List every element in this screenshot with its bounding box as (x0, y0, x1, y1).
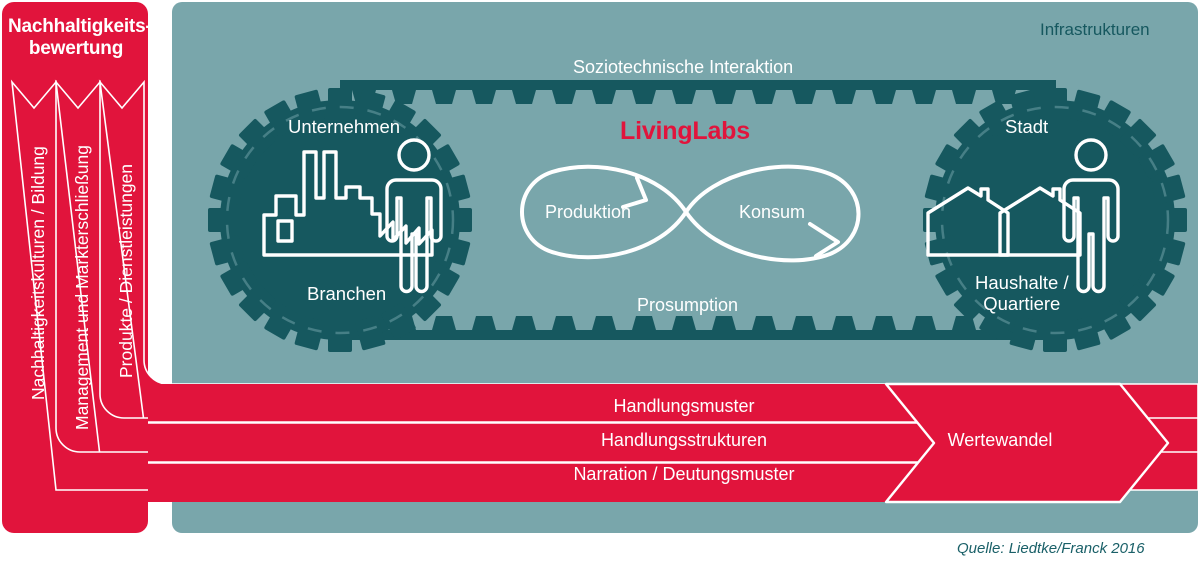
diagram-graphics (0, 0, 1200, 568)
diagram-canvas: Nachhaltigkeits- bewertung Nachhaltigkei… (0, 0, 1200, 568)
outcome-band-2 (148, 424, 923, 462)
outcome-band-1 (148, 384, 923, 422)
outcome-band-3 (148, 464, 923, 502)
outcome-bands (148, 384, 947, 502)
gear-right (923, 88, 1187, 352)
